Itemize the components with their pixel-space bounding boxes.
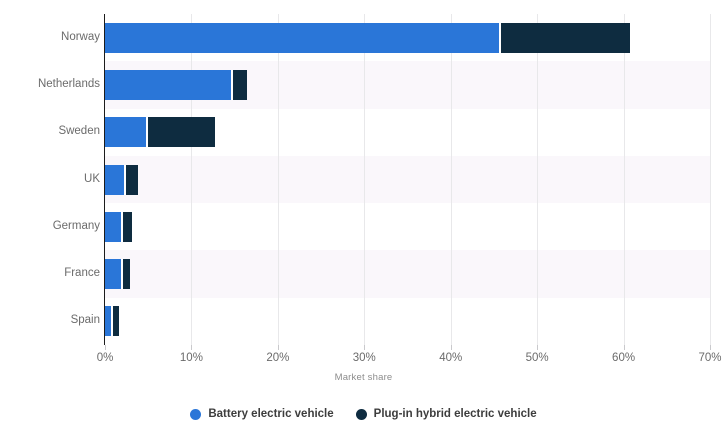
x-axis-tick-label: 30% [353,352,376,364]
bar-segment-plug-in-hybrid-electric-vehicle[interactable] [148,117,215,147]
bar-segment-plug-in-hybrid-electric-vehicle[interactable] [123,259,130,289]
bar-segment-plug-in-hybrid-electric-vehicle[interactable] [126,165,138,195]
legend-label: Plug-in hybrid electric vehicle [374,408,537,420]
bar-segment-battery-electric-vehicle[interactable] [105,259,121,289]
bar-row[interactable] [105,212,132,242]
bar-segment-battery-electric-vehicle[interactable] [105,117,146,147]
bar-segment-battery-electric-vehicle[interactable] [105,70,231,100]
plot-area [105,14,710,345]
gridline [364,14,365,345]
bar-segment-plug-in-hybrid-electric-vehicle[interactable] [501,23,631,53]
x-axis-tick-label: 50% [526,352,549,364]
x-axis-tick-mark [624,345,625,350]
x-axis-tick-label: 10% [180,352,203,364]
y-axis-label-france: France [4,268,100,280]
x-axis-tick-mark [105,345,106,350]
y-axis-label-uk: UK [4,174,100,186]
x-axis-tick-label: 60% [612,352,635,364]
gridline [537,14,538,345]
y-axis-category-labels: NorwayNetherlandsSwedenUKGermanyFranceSp… [0,14,100,345]
row-band [105,250,710,297]
x-axis-tick-mark [710,345,711,350]
bar-row[interactable] [105,23,630,53]
y-axis-line [104,14,105,345]
bar-segment-battery-electric-vehicle[interactable] [105,165,124,195]
x-axis-tick-label: 20% [266,352,289,364]
legend-label: Battery electric vehicle [208,408,333,420]
gridline [191,14,192,345]
bar-segment-plug-in-hybrid-electric-vehicle[interactable] [233,70,248,100]
legend-circle-icon [190,409,201,420]
y-axis-label-norway: Norway [4,32,100,44]
gridline [451,14,452,345]
x-axis-title: Market share [0,372,727,383]
x-axis-tick-mark [537,345,538,350]
x-axis-tick-label: 70% [698,352,721,364]
bar-row[interactable] [105,117,215,147]
bar-segment-plug-in-hybrid-electric-vehicle[interactable] [113,306,119,336]
x-axis-tick-mark [278,345,279,350]
x-axis-tick-mark [191,345,192,350]
bar-segment-battery-electric-vehicle[interactable] [105,23,499,53]
gridline [278,14,279,345]
x-axis-tick-mark [364,345,365,350]
bar-row[interactable] [105,165,138,195]
y-axis-label-spain: Spain [4,315,100,327]
gridline [710,14,711,345]
legend-item-battery-electric-vehicle[interactable]: Battery electric vehicle [190,408,333,420]
y-axis-label-sweden: Sweden [4,126,100,138]
bar-segment-plug-in-hybrid-electric-vehicle[interactable] [123,212,133,242]
x-axis-tick-mark [451,345,452,350]
bar-row[interactable] [105,70,247,100]
x-axis-tick-label: 40% [439,352,462,364]
legend-circle-icon [356,409,367,420]
bar-row[interactable] [105,259,130,289]
chart-legend: Battery electric vehiclePlug-in hybrid e… [0,408,727,420]
legend-item-plug-in-hybrid-electric-vehicle[interactable]: Plug-in hybrid electric vehicle [356,408,537,420]
row-band [105,156,710,203]
bar-segment-battery-electric-vehicle[interactable] [105,212,121,242]
x-axis-tick-label: 0% [97,352,114,364]
stacked-bar-chart: NorwayNetherlandsSwedenUKGermanyFranceSp… [0,0,727,447]
gridline [624,14,625,345]
y-axis-label-germany: Germany [4,221,100,233]
x-axis: 0%10%20%30%40%50%60%70% [105,345,710,375]
y-axis-label-netherlands: Netherlands [4,79,100,91]
bar-row[interactable] [105,306,119,336]
